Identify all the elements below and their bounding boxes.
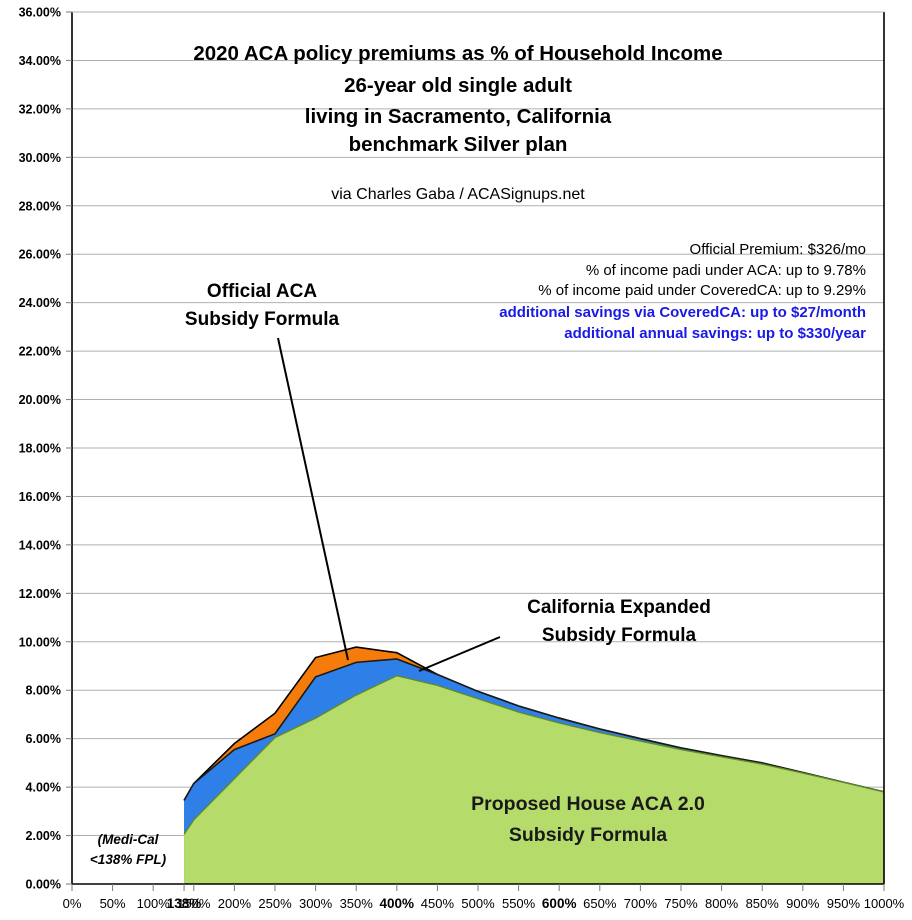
x-tick-label: 900%: [786, 896, 820, 911]
info-line-2: % of income paid under CoveredCA: up to …: [538, 282, 866, 299]
callout-official-aca-line-0: Official ACA: [207, 281, 317, 302]
y-tick-label: 10.00%: [19, 635, 61, 649]
y-tick-label: 16.00%: [19, 490, 61, 504]
premium-area-chart: 0.00%2.00%4.00%6.00%8.00%10.00%12.00%14.…: [0, 0, 912, 920]
callout-official-aca-line-1: Subsidy Formula: [185, 309, 340, 330]
y-tick-label: 4.00%: [26, 781, 61, 795]
x-tick-label: 750%: [664, 896, 698, 911]
medi-cal-note-line-1: <138% FPL): [90, 852, 167, 867]
chart-title-line-3: benchmark Silver plan: [349, 133, 568, 156]
x-tick-label: 950%: [827, 896, 861, 911]
y-tick-label: 30.00%: [19, 151, 61, 165]
y-tick-label: 18.00%: [19, 442, 61, 456]
medi-cal-note-line-0: (Medi-Cal: [98, 832, 159, 847]
x-tick-label: 1000%: [864, 896, 905, 911]
y-tick-label: 20.00%: [19, 393, 61, 407]
chart-title-line-0: 2020 ACA policy premiums as % of Househo…: [193, 42, 722, 65]
y-tick-label: 2.00%: [26, 829, 61, 843]
x-tick-label: 700%: [624, 896, 658, 911]
chart-container: 0.00%2.00%4.00%6.00%8.00%10.00%12.00%14.…: [0, 0, 912, 920]
y-tick-label: 0.00%: [26, 878, 61, 892]
y-tick-label: 24.00%: [19, 296, 61, 310]
info-line-3: additional savings via CoveredCA: up to …: [499, 304, 866, 321]
y-tick-label: 26.00%: [19, 248, 61, 262]
info-line-0: Official Premium: $326/mo: [690, 241, 866, 258]
y-tick-label: 22.00%: [19, 345, 61, 359]
x-tick-label: 50%: [100, 896, 126, 911]
x-tick-label: 350%: [340, 896, 374, 911]
y-tick-label: 34.00%: [19, 54, 61, 68]
x-tick-label: 400%: [380, 896, 415, 911]
chart-credit: via Charles Gaba / ACASignups.net: [331, 186, 585, 203]
x-tick-label: 600%: [542, 896, 577, 911]
y-tick-label: 36.00%: [19, 6, 61, 20]
inline-label-house-line-1: Subsidy Formula: [509, 824, 667, 846]
callout-california-line-0: California Expanded: [527, 597, 711, 618]
y-tick-label: 28.00%: [19, 199, 61, 213]
y-tick-label: 14.00%: [19, 538, 61, 552]
y-tick-label: 6.00%: [26, 732, 61, 746]
x-tick-label: 200%: [218, 896, 252, 911]
x-tick-label: 250%: [258, 896, 292, 911]
x-tick-label: 150%: [177, 896, 211, 911]
y-tick-label: 32.00%: [19, 102, 61, 116]
x-tick-label: 300%: [299, 896, 333, 911]
x-tick-label: 800%: [705, 896, 739, 911]
x-tick-label: 100%: [137, 896, 171, 911]
x-tick-label: 0%: [63, 896, 82, 911]
chart-title-line-1: 26-year old single adult: [344, 74, 572, 97]
x-tick-label: 450%: [421, 896, 455, 911]
inline-label-house-line-0: Proposed House ACA 2.0: [471, 793, 705, 815]
y-tick-label: 12.00%: [19, 587, 61, 601]
y-tick-label: 8.00%: [26, 684, 61, 698]
info-line-4: additional annual savings: up to $330/ye…: [564, 325, 866, 342]
x-tick-label: 550%: [502, 896, 536, 911]
chart-title-line-2: living in Sacramento, California: [305, 105, 612, 128]
info-line-1: % of income padi under ACA: up to 9.78%: [586, 262, 866, 279]
x-tick-label: 850%: [746, 896, 780, 911]
callout-california-line-1: Subsidy Formula: [542, 625, 697, 646]
x-tick-label: 500%: [461, 896, 495, 911]
x-tick-label: 650%: [583, 896, 617, 911]
